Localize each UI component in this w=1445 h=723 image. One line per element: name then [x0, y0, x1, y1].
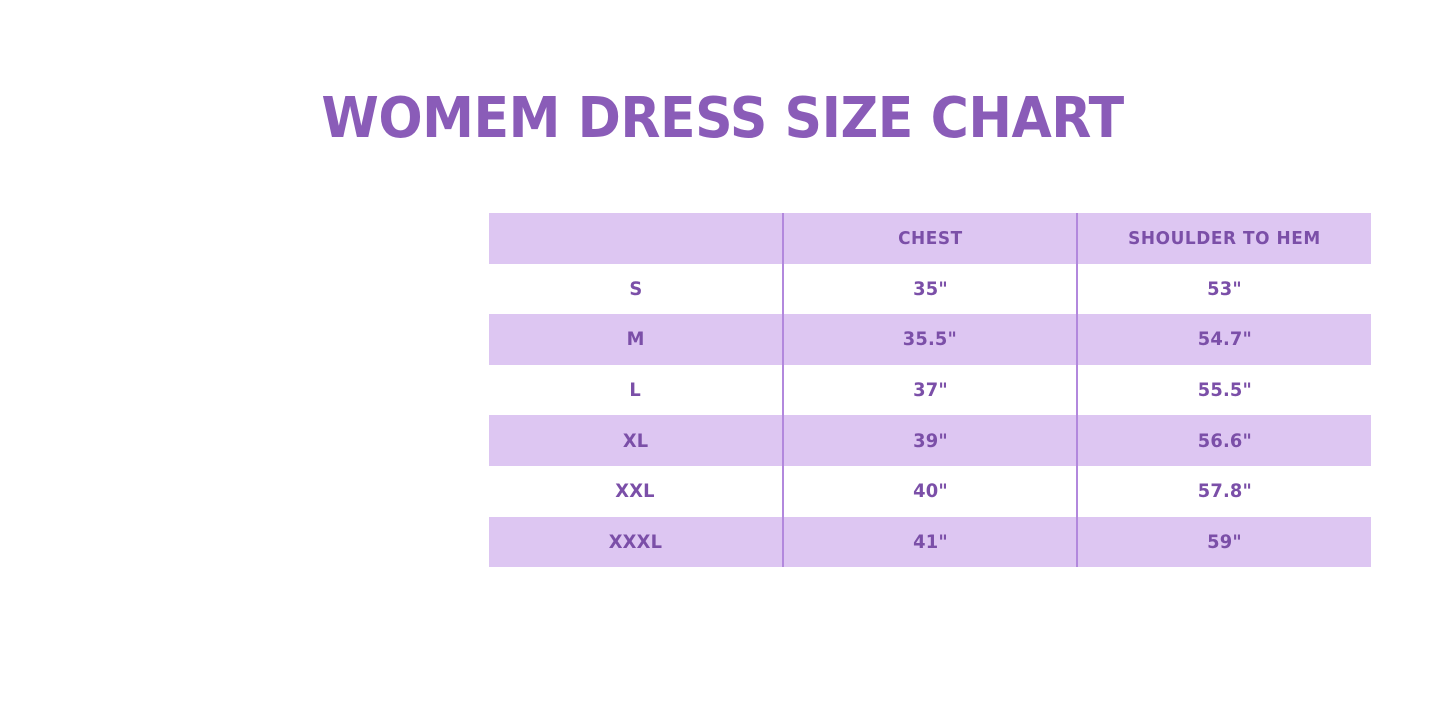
cell-size-value: S	[629, 278, 642, 300]
cell-size: S	[489, 264, 783, 315]
table-row: S 35" 53"	[489, 264, 1371, 315]
cell-shoulder-to-hem-value: 54.7"	[1197, 328, 1251, 350]
cell-chest-value: 41"	[913, 531, 948, 553]
cell-shoulder-to-hem: 59"	[1077, 517, 1371, 568]
cell-chest-value: 35"	[913, 278, 948, 300]
cell-chest: 41"	[783, 517, 1077, 568]
cell-shoulder-to-hem-value: 56.6"	[1197, 430, 1251, 452]
column-header-shoulder-to-hem-label: SHOULDER TO HEM	[1128, 228, 1321, 249]
cell-size-value: L	[630, 379, 642, 401]
column-header-chest-label: CHEST	[898, 228, 963, 249]
cell-chest: 40"	[783, 466, 1077, 517]
cell-chest-value: 40"	[913, 480, 948, 502]
column-header-chest: CHEST	[783, 213, 1077, 264]
cell-size-value: XXL	[616, 480, 655, 502]
cell-size-value: M	[627, 328, 645, 350]
column-header-shoulder-to-hem: SHOULDER TO HEM	[1077, 213, 1371, 264]
cell-chest-value: 39"	[913, 430, 948, 452]
size-chart-page: WOMEM DRESS SIZE CHART CHEST SHOULDER TO…	[0, 0, 1445, 723]
cell-chest: 35.5"	[783, 314, 1077, 365]
table-header-row: CHEST SHOULDER TO HEM	[489, 213, 1371, 264]
cell-size-value: XL	[623, 430, 649, 452]
table-header: CHEST SHOULDER TO HEM	[489, 213, 1371, 264]
cell-shoulder-to-hem: 55.5"	[1077, 365, 1371, 416]
cell-shoulder-to-hem: 56.6"	[1077, 415, 1371, 466]
cell-chest: 35"	[783, 264, 1077, 315]
cell-size: L	[489, 365, 783, 416]
cell-shoulder-to-hem-value: 59"	[1207, 531, 1242, 553]
size-chart-table: CHEST SHOULDER TO HEM S 35" 53"	[489, 213, 1371, 567]
cell-chest: 37"	[783, 365, 1077, 416]
cell-chest-value: 37"	[913, 379, 948, 401]
column-header-size	[489, 213, 783, 264]
cell-shoulder-to-hem-value: 57.8"	[1197, 480, 1251, 502]
cell-chest: 39"	[783, 415, 1077, 466]
table-row: M 35.5" 54.7"	[489, 314, 1371, 365]
cell-size: XL	[489, 415, 783, 466]
cell-chest-value: 35.5"	[903, 328, 957, 350]
table-row: XL 39" 56.6"	[489, 415, 1371, 466]
cell-size-value: XXXL	[609, 531, 662, 553]
cell-shoulder-to-hem-value: 53"	[1207, 278, 1242, 300]
cell-shoulder-to-hem: 53"	[1077, 264, 1371, 315]
cell-size: M	[489, 314, 783, 365]
cell-shoulder-to-hem-value: 55.5"	[1197, 379, 1251, 401]
table-body: S 35" 53" M 35.5" 54.7"	[489, 264, 1371, 568]
page-title: WOMEM DRESS SIZE CHART	[51, 90, 1395, 149]
cell-size: XXL	[489, 466, 783, 517]
table-row: XXXL 41" 59"	[489, 517, 1371, 568]
cell-shoulder-to-hem: 57.8"	[1077, 466, 1371, 517]
table-row: XXL 40" 57.8"	[489, 466, 1371, 517]
cell-size: XXXL	[489, 517, 783, 568]
table-row: L 37" 55.5"	[489, 365, 1371, 416]
cell-shoulder-to-hem: 54.7"	[1077, 314, 1371, 365]
